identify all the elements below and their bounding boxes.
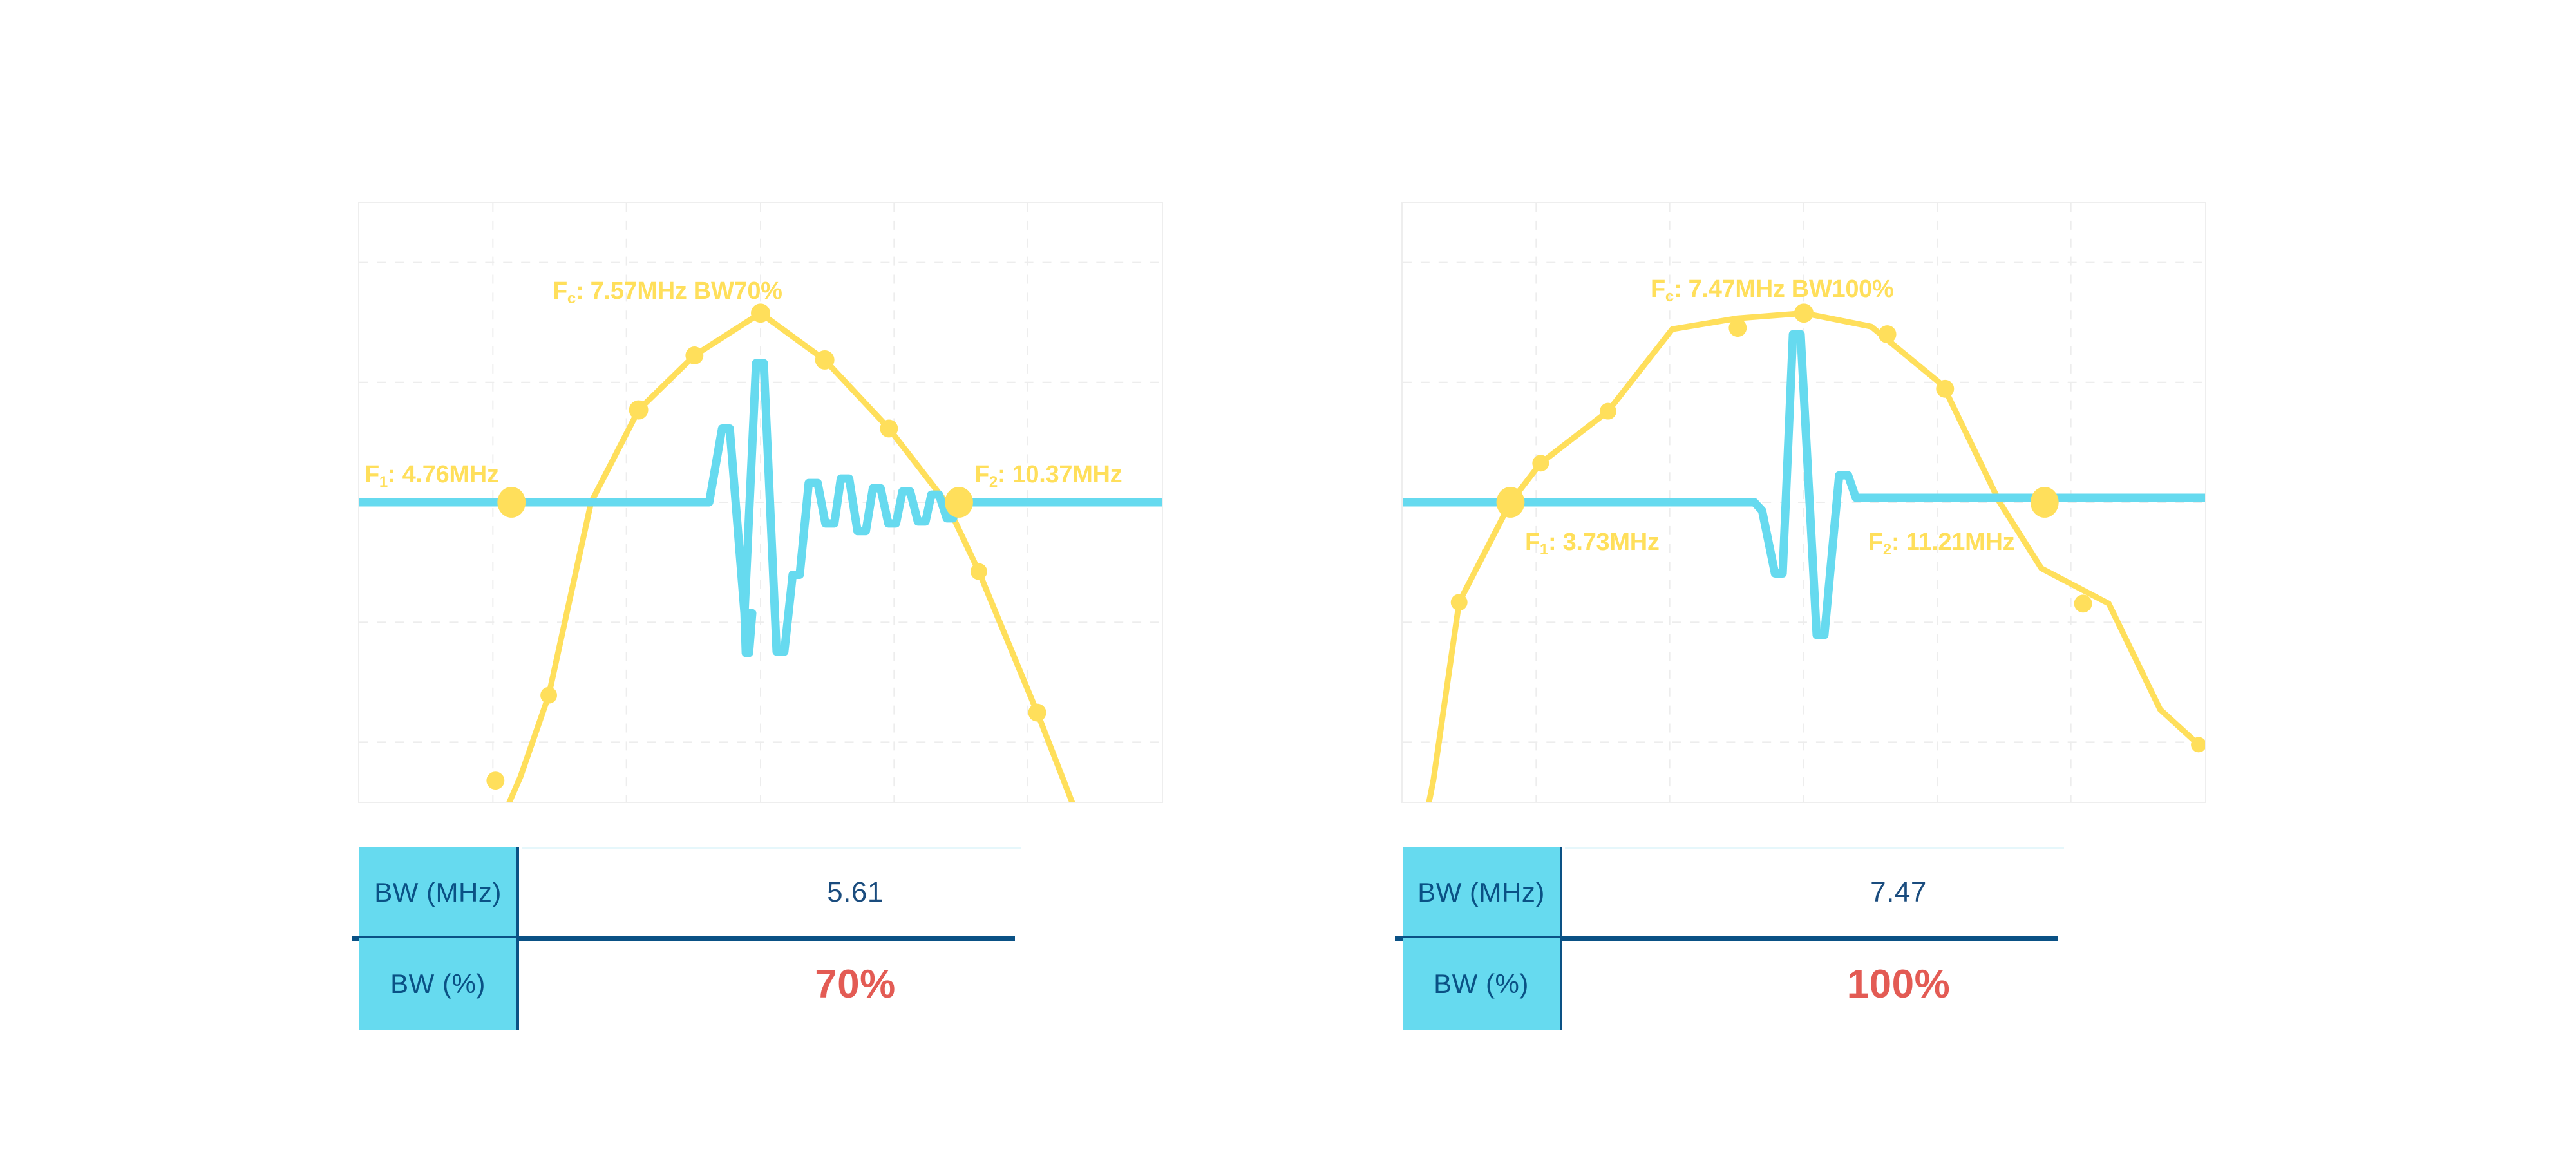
f2-marker xyxy=(2031,487,2059,518)
row-label-bw-mhz: BW (MHz) xyxy=(1403,847,1562,938)
panel-left: Fc: 7.57MHz BW70% F1: 4.76MHz F2: 10.37M… xyxy=(335,0,1172,1154)
annotation-center-frequency-right: Fc: 7.47MHz BW100% xyxy=(1651,277,1894,305)
row-label-bw-mhz: BW (MHz) xyxy=(359,847,519,938)
row-value-bw-mhz: 7.47 xyxy=(1562,847,2235,938)
chart-frame-right: Fc: 7.47MHz BW100% F1: 3.73MHz F2: 11.21… xyxy=(1401,202,2206,803)
spectrum-markers-right xyxy=(1451,303,2205,752)
table-row: BW (%) 100% xyxy=(1403,938,2235,1030)
annotation-center-frequency-left: Fc: 7.57MHz BW70% xyxy=(553,279,782,307)
row-label-bw-percent: BW (%) xyxy=(1403,938,1562,1030)
annotation-f2-left: F2: 10.37MHz xyxy=(974,462,1122,490)
row-label-bw-percent: BW (%) xyxy=(359,938,519,1030)
row-value-bw-mhz: 5.61 xyxy=(519,847,1191,938)
panel-right: Fc: 7.47MHz BW100% F1: 3.73MHz F2: 11.21… xyxy=(1378,0,2215,1154)
row-value-bw-percent: 70% xyxy=(519,938,1191,1030)
annotation-f1-right: F1: 3.73MHz xyxy=(1525,530,1660,558)
spectrum-curve-left xyxy=(464,313,1092,802)
result-table-left: BW (MHz) 5.61 BW (%) 70% xyxy=(359,847,1191,1030)
f1-marker xyxy=(1497,487,1525,518)
table-row: BW (MHz) 5.61 xyxy=(359,847,1191,938)
annotation-f1-left: F1: 4.76MHz xyxy=(365,462,499,490)
chart-frame-left: Fc: 7.57MHz BW70% F1: 4.76MHz F2: 10.37M… xyxy=(358,202,1163,803)
f2-marker xyxy=(945,487,973,518)
result-table-right: BW (MHz) 7.47 BW (%) 100% xyxy=(1403,847,2235,1030)
f1-marker xyxy=(497,487,526,518)
row-value-bw-percent: 100% xyxy=(1562,938,2235,1030)
table-row: BW (MHz) 7.47 xyxy=(1403,847,2235,938)
table-row: BW (%) 70% xyxy=(359,938,1191,1030)
annotation-f2-right: F2: 11.21MHz xyxy=(1868,530,2014,558)
